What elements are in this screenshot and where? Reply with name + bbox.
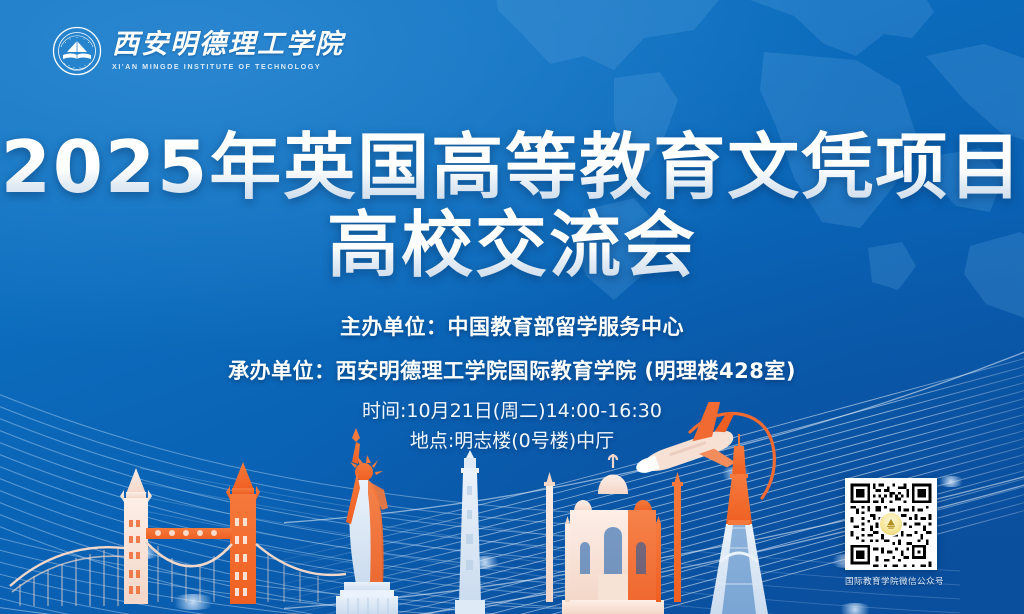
glow-blob: [612, 530, 656, 546]
event-location: 地点:明志楼(0号楼)中厅: [0, 426, 1024, 456]
qr-code-image[interactable]: [845, 478, 937, 570]
lighthouse-icon: [455, 450, 485, 614]
glow-blob: [168, 594, 218, 610]
glow-blob: [345, 525, 387, 541]
poster-title: 2025年英国高等教育文凭项目 高校交流会: [0, 128, 1024, 284]
glow-blob: [836, 603, 874, 614]
glow-blob: [468, 556, 502, 569]
organizer-block: 主办单位：中国教育部留学服务中心 承办单位：西安明德理工学院国际教育学院 (明理…: [0, 312, 1024, 386]
tower-bridge-icon: [0, 462, 346, 614]
event-time: 时间:10月21日(周二)14:00-16:30: [0, 396, 1024, 426]
poster-canvas: 西安明德理工学院 XI'AN MINGDE INSTITUTE OF TECHN…: [0, 0, 1024, 614]
qr-code-block[interactable]: 国际教育学院微信公众号: [845, 478, 937, 587]
title-line-2: 高校交流会: [0, 206, 1024, 284]
glow-blob: [128, 547, 162, 559]
glow-blob: [936, 476, 966, 487]
eiffel-tower-icon: [710, 434, 768, 614]
qr-caption: 国际教育学院微信公众号: [845, 575, 937, 587]
glow-blob: [718, 467, 754, 480]
co-organizer-organization: 承办单位：西安明德理工学院国际教育学院 (明理楼428室): [0, 356, 1024, 386]
university-logo: 西安明德理工学院 XI'AN MINGDE INSTITUTE OF TECHN…: [52, 26, 344, 76]
taj-mahal-icon: [544, 454, 683, 614]
logo-name-en: XI'AN MINGDE INSTITUTE OF TECHNOLOGY: [112, 62, 344, 71]
wechat-official-logo-icon: [880, 513, 902, 535]
event-details-block: 时间:10月21日(周二)14:00-16:30 地点:明志楼(0号楼)中厅: [0, 396, 1024, 456]
title-line-1: 2025年英国高等教育文凭项目: [0, 128, 1024, 206]
host-organization: 主办单位：中国教育部留学服务中心: [0, 312, 1024, 342]
university-seal-icon: [52, 26, 102, 76]
logo-name-cn: 西安明德理工学院: [112, 31, 344, 59]
